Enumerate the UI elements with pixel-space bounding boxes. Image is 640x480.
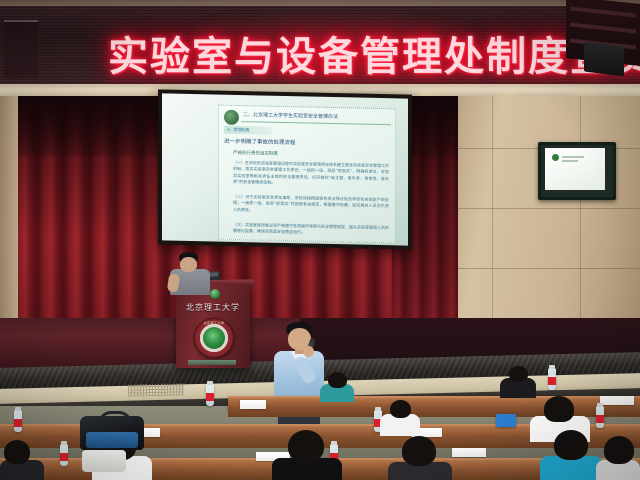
paper-sheet (452, 448, 486, 457)
paper-sheet (600, 396, 634, 405)
speaker-hand (303, 346, 314, 357)
presentation-slide: 二、北京理工大学学生实验室安全管理办法 3、管理制度 进一步明确了事故的处理流程… (218, 105, 396, 244)
wall-display-screen (545, 148, 605, 190)
water-bottle (14, 410, 22, 432)
conference-hall-photo: 实验室与设备管理处制度宣贯会 二、 (0, 0, 640, 480)
truss-bar (570, 23, 636, 34)
slide-heading: 进一步明确了事故的处理流程 (224, 138, 389, 149)
podium-institution-name: 北京理工大学 (180, 302, 246, 313)
slide-paragraph: （三）实验室使用者必须严格遵守各项操作规程与安全管理规定，服从实验室管理人员的管… (233, 222, 389, 243)
audience-head (288, 430, 324, 462)
audience-member (0, 440, 44, 480)
audience-head (402, 436, 436, 466)
stage-vent-grille (128, 383, 184, 396)
bit-seal-logo: 北京理工大学 (194, 318, 234, 358)
podium-control-plate (188, 360, 236, 365)
audience-head (390, 400, 411, 418)
water-bottle (548, 368, 556, 390)
bag-handle (98, 411, 132, 424)
seal-tree-icon (203, 327, 225, 349)
audience-head (4, 440, 30, 464)
slide-paragraph: （二）对于实验室安全责任事故，学校将按照国家有关法律法规及学校有关规定严肃处理；… (233, 194, 389, 223)
green-logo-icon (552, 154, 559, 161)
bag-flap (86, 432, 138, 448)
audience-head (604, 436, 634, 464)
smartphone-icon (496, 414, 516, 427)
paper-sheet (240, 400, 266, 409)
audience-member (272, 430, 342, 480)
slide-section-tag-label: 3、管理制度 (227, 127, 250, 133)
audience-member (540, 430, 602, 480)
audience-member (388, 436, 452, 480)
pa-speaker-box (584, 42, 624, 77)
projection-screen-frame: 二、北京理工大学学生实验室安全管理办法 3、管理制度 进一步明确了事故的处理流程… (158, 89, 412, 249)
projection-screen: 二、北京理工大学学生实验室安全管理办法 3、管理制度 进一步明确了事故的处理流程… (162, 93, 408, 245)
lectern-podium: 北京理工大学 北京理工大学 (176, 284, 250, 368)
slide-title: 二、北京理工大学学生实验室安全管理办法 (243, 111, 391, 122)
bit-seal-icon (224, 110, 239, 125)
operator-head (180, 257, 197, 272)
audience-head (544, 396, 574, 422)
podium-seal-text: 北京理工大学 (195, 321, 233, 325)
water-bottle (60, 444, 68, 466)
slide-subheading: 严格执行责任追究制度 (233, 150, 389, 160)
audience-head (328, 372, 347, 388)
podium-operator (170, 252, 212, 292)
banner-title-text: 实验室与设备管理处制度宣贯会 (108, 26, 628, 80)
backpack-bag (80, 416, 144, 450)
led-panel-side-strip (4, 20, 38, 78)
slide-paragraph: （一）在学校的实验室管理过程中实验室安全管理责任体系建立健全实验室安全管理工作机… (233, 160, 389, 195)
slide-section-tag: 3、管理制度 (224, 126, 272, 135)
wall-mounted-display[interactable] (538, 142, 616, 200)
audience-member (500, 366, 536, 396)
led-banner-panel: 实验室与设备管理处制度宣贯会 (0, 6, 640, 88)
audience-head (509, 366, 528, 382)
audience-member (596, 436, 640, 480)
truss-bar (570, 7, 636, 18)
audience-member (380, 400, 420, 434)
water-bottle (206, 384, 214, 406)
audience-member (320, 372, 354, 400)
white-cloth-items (82, 450, 126, 472)
water-bottle (596, 406, 604, 428)
audience-head (554, 430, 588, 460)
